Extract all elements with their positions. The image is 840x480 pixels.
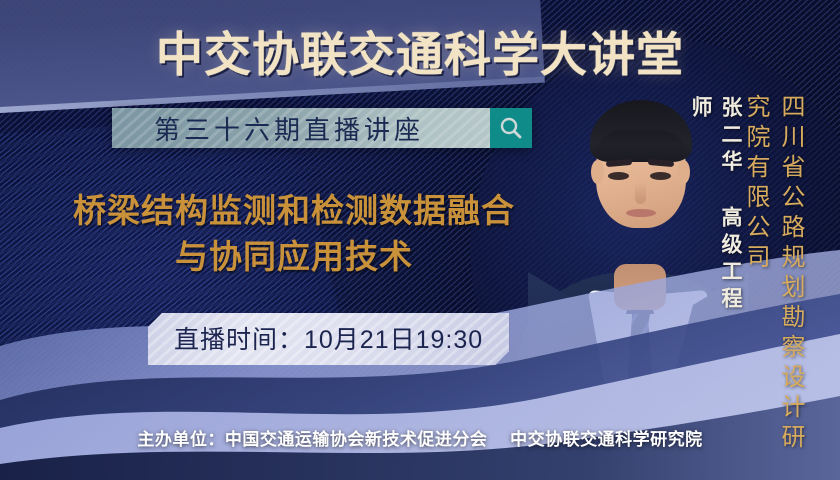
portrait-hair — [590, 100, 692, 162]
portrait-eye-left — [608, 172, 629, 180]
lecture-title: 桥梁结构监测和检测数据融合 与协同应用技术 — [24, 188, 564, 279]
speaker-name-and-title: 张二华 高级工程师 — [685, 96, 745, 326]
lecture-poster: 中交协联交通科学大讲堂 第三十六期直播讲座 桥梁结构监测和检测数据融合 与协同应… — [0, 0, 840, 480]
series-banner: 第三十六期直播讲座 — [112, 108, 532, 148]
organizer-footer: 主办单位：中国交通运输协会新技术促进分会 中交协联交通科学研究院 — [0, 425, 840, 450]
series-label: 第三十六期直播讲座 — [112, 108, 490, 148]
speaker-organization: 四川省公路规划勘察设计研究院有限公司 — [738, 94, 808, 454]
portrait-eye-right — [650, 172, 671, 180]
broadcast-time-label: 直播时间：10月21日19:30 — [174, 326, 483, 354]
broadcast-time-badge: 直播时间：10月21日19:30 — [148, 313, 509, 365]
lecture-title-line-2: 与协同应用技术 — [24, 234, 564, 280]
portrait-neck — [614, 264, 666, 310]
search-icon[interactable] — [490, 108, 532, 148]
main-title: 中交协联交通科学大讲堂 — [0, 16, 840, 85]
lecture-title-line-1: 桥梁结构监测和检测数据融合 — [24, 188, 564, 234]
portrait-ear-left — [591, 160, 604, 184]
portrait-nose — [635, 182, 646, 204]
portrait-mouth — [626, 209, 656, 217]
